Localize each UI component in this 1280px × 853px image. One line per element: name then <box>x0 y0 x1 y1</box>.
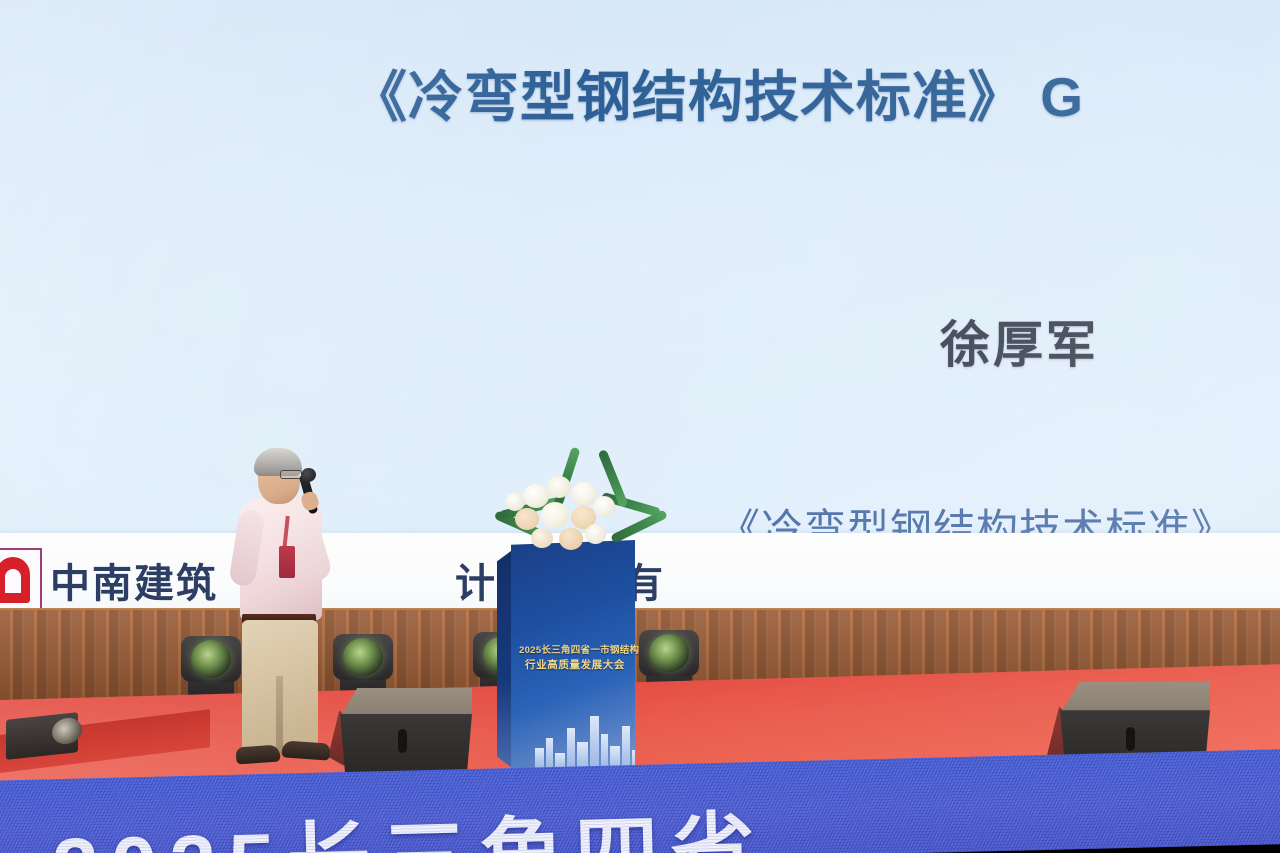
led-banner-text: 2025长三角四省 <box>51 784 769 853</box>
presenter-person <box>224 446 344 776</box>
organization-logo-mark-icon <box>0 557 30 603</box>
organization-name: 中南建筑 <box>50 551 218 609</box>
podium-skyline-graphic <box>533 700 645 772</box>
monitor-port-icon <box>1126 727 1135 751</box>
organization-logo <box>0 548 42 610</box>
stage-monitor-left <box>340 688 472 774</box>
presenter-left-shoe <box>235 744 280 764</box>
light-lens-icon <box>649 634 689 672</box>
light-lens-icon <box>343 638 383 676</box>
monitor-port-icon <box>398 729 407 753</box>
presenter-right-shoe <box>281 740 330 760</box>
podium-headline-line1: 2025长三角四省一市钢结构 <box>519 642 631 656</box>
conference-stage-photo: 《冷弯型钢结构技术标准》 G 徐厚军 《冷弯型钢结构技术标准》 中南建筑 计院股… <box>0 0 1280 853</box>
presenter-badge <box>279 546 295 578</box>
slide-main-title-text: 《冷弯型钢结构技术标准》 <box>352 66 1024 128</box>
slide-speaker-name: 徐厚军 <box>940 305 1099 377</box>
monitor-top <box>1060 682 1210 714</box>
slide-main-title: 《冷弯型钢结构技术标准》 G <box>352 52 1084 132</box>
flower-arrangement <box>497 470 667 580</box>
monitor-top <box>340 688 472 717</box>
presenter-leg-separation <box>276 676 283 754</box>
podium-headline-line2: 行业高质量发展大会 <box>519 657 631 672</box>
slide-standard-code: G <box>1040 66 1084 128</box>
